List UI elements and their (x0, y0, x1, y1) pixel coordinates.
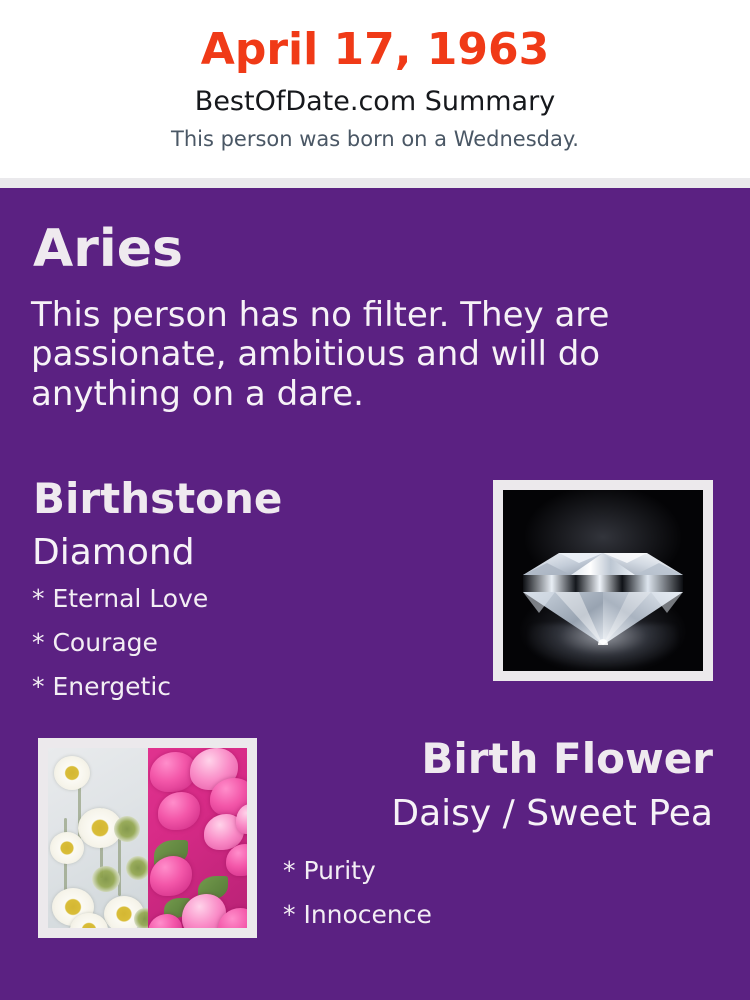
diamond-shape-icon (519, 541, 687, 645)
header-divider (0, 178, 750, 188)
birth-flower-trait-list: * Purity * Innocence (283, 858, 432, 946)
sweet-pea-pane (148, 748, 248, 928)
page-header: April 17, 1963 BestOfDate.com Summary Th… (0, 0, 750, 178)
birth-flower-title: Birth Flower (421, 738, 713, 780)
zodiac-sign-title: Aries (33, 222, 183, 277)
birth-flower-image-frame (38, 738, 257, 938)
flower-photo-icon (48, 748, 247, 928)
birthstone-trait-list: * Eternal Love * Courage * Energetic (32, 586, 208, 718)
list-item: * Courage (32, 630, 208, 655)
list-item: * Eternal Love (32, 586, 208, 611)
page-title-date: April 17, 1963 (0, 0, 750, 72)
summary-page: April 17, 1963 BestOfDate.com Summary Th… (0, 0, 750, 1000)
site-summary-label: BestOfDate.com Summary (0, 72, 750, 115)
birth-flower-name: Daisy / Sweet Pea (391, 796, 713, 832)
birthstone-image-frame (493, 480, 713, 681)
birthstone-name: Diamond (32, 535, 195, 571)
zodiac-description: This person has no filter. They are pass… (31, 296, 651, 414)
list-item: * Innocence (283, 902, 432, 927)
diamond-icon (503, 490, 703, 671)
born-day-note: This person was born on a Wednesday. (0, 115, 750, 150)
list-item: * Energetic (32, 674, 208, 699)
birthstone-title: Birthstone (33, 478, 282, 520)
list-item: * Purity (283, 858, 432, 883)
daisy-pane (48, 748, 148, 928)
